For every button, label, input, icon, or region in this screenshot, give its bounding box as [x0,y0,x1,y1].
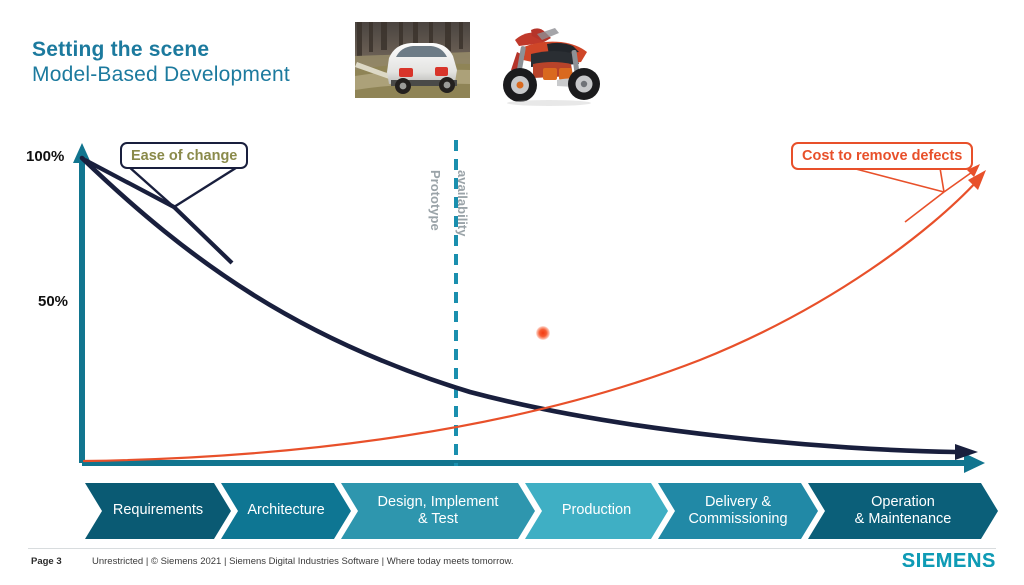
y-axis [73,143,91,463]
footer-legal-text: Unrestricted | © Siemens 2021 | Siemens … [92,556,514,567]
stage-architecture[interactable]: Architecture [221,483,351,539]
footer-divider [28,548,996,549]
stage-label: Design, Implement & Test [378,494,499,528]
cost-to-remove-defects-leader [852,164,980,222]
footer-page-number: Page 3 [31,556,62,567]
stage-label-line2: & Test [418,511,458,527]
y-axis-label-50: 50% [38,293,68,310]
lifecycle-process-bar: Requirements Architecture Design, Implem… [85,483,980,539]
stage-operation-maintenance[interactable]: Operation & Maintenance [808,483,998,539]
cost-to-remove-defects-curve [84,170,986,461]
stage-label-line1: Operation [871,494,935,510]
stage-delivery-commissioning[interactable]: Delivery & Commissioning [658,483,818,539]
stage-label: Operation & Maintenance [855,494,952,528]
ease-of-change-curve [82,158,978,460]
prototype-availability-label-line2: availability [455,170,470,236]
stage-label: Architecture [247,502,324,519]
cost-to-remove-defects-callout: Cost to remove defects [791,142,973,170]
stage-label-line1: Design, Implement [378,494,499,510]
stage-production[interactable]: Production [525,483,668,539]
stage-label-line1: Delivery & [705,494,771,510]
stage-label-line2: Commissioning [688,511,787,527]
prototype-availability-label-line1: Prototype [428,170,443,231]
ease-of-change-leader [85,160,239,263]
stage-label: Requirements [113,502,203,519]
click-indicator [536,326,550,340]
y-axis-label-100: 100% [26,148,64,165]
ease-of-change-callout: Ease of change [120,142,248,169]
stage-label: Production [562,502,631,519]
stage-design-implement-test[interactable]: Design, Implement & Test [341,483,535,539]
siemens-logo: SIEMENS [902,550,996,573]
stage-requirements[interactable]: Requirements [85,483,231,539]
stage-label-line2: & Maintenance [855,511,952,527]
stage-label: Delivery & Commissioning [688,494,787,528]
